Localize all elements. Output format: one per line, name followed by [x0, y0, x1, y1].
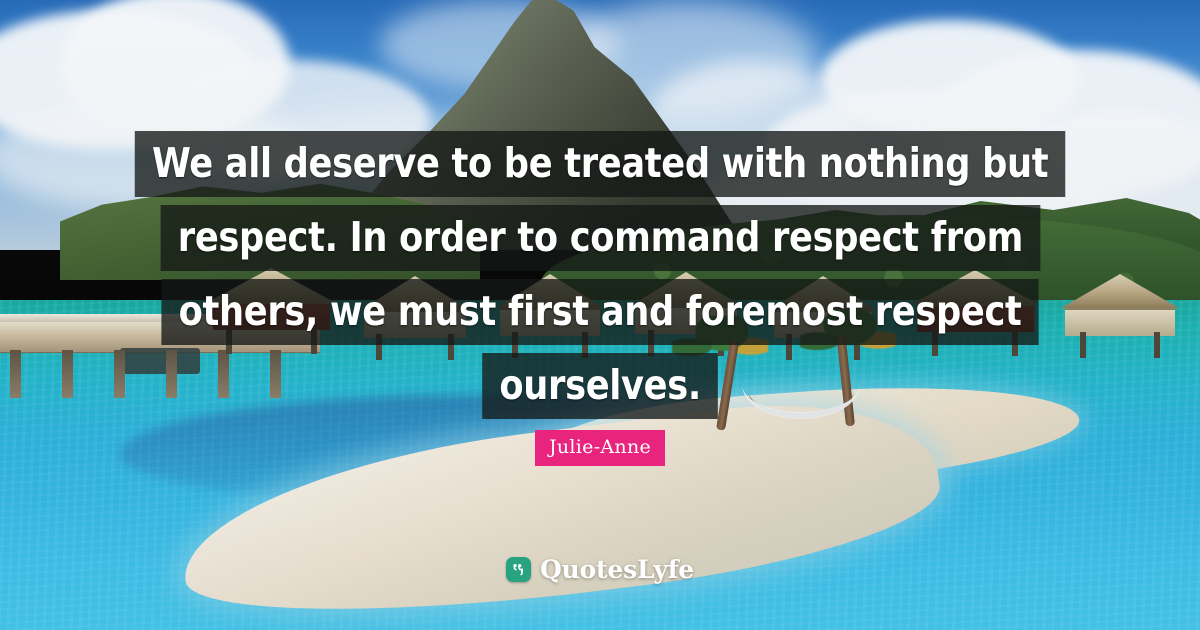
author-name-badge: Julie-Anne [535, 430, 665, 466]
quote-mark-icon [506, 557, 531, 582]
quote-line: others, we must first and foremost respe… [161, 279, 1038, 345]
quote-line: We all deserve to be treated with nothin… [135, 131, 1066, 197]
brand-name: QuotesLyfe [540, 557, 694, 582]
quote-image-canvas: We all deserve to be treated with nothin… [0, 0, 1200, 630]
quote-text-block: We all deserve to be treated with nothin… [0, 131, 1200, 419]
brand-watermark: QuotesLyfe [0, 557, 1200, 582]
author-attribution: Julie-Anne [0, 430, 1200, 466]
quote-line: ourselves. [482, 353, 718, 419]
quote-line: respect. In order to command respect fro… [160, 205, 1040, 271]
